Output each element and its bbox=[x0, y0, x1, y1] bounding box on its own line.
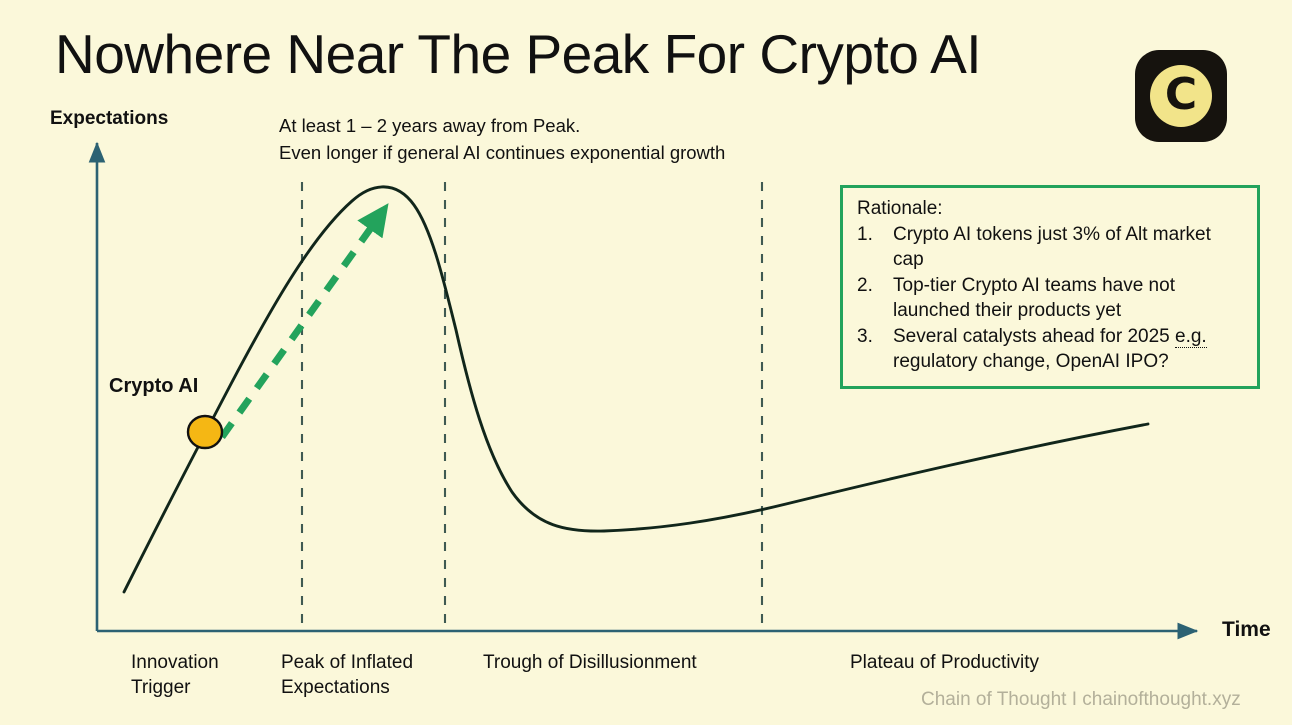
rationale-item-number: 2. bbox=[857, 273, 893, 323]
rationale-item: 1. Crypto AI tokens just 3% of Alt marke… bbox=[857, 222, 1243, 272]
slide-canvas: Nowhere Near The Peak For Crypto AI C Ex… bbox=[0, 0, 1292, 725]
rationale-item-number: 3. bbox=[857, 324, 893, 374]
rationale-item-text: Several catalysts ahead for 2025 e.g. re… bbox=[893, 324, 1243, 374]
rationale-list: 1. Crypto AI tokens just 3% of Alt marke… bbox=[857, 222, 1243, 374]
footer-attribution: Chain of Thought I chainofthought.xyz bbox=[921, 689, 1241, 711]
rationale-item: 2. Top-tier Crypto AI teams have not lau… bbox=[857, 273, 1243, 323]
rationale-item-number: 1. bbox=[857, 222, 893, 272]
phase-label-peak-of-inflated-expectations: Peak of Inflated Expectations bbox=[281, 650, 413, 700]
growth-projection-arrow bbox=[222, 218, 378, 437]
rationale-item-text-a: Several catalysts ahead for 2025 bbox=[893, 326, 1175, 347]
rationale-box: Rationale: 1. Crypto AI tokens just 3% o… bbox=[840, 185, 1260, 389]
phase-label-line-1: Peak of Inflated bbox=[281, 650, 413, 675]
rationale-item-text-c: regulatory change, OpenAI IPO? bbox=[893, 351, 1169, 372]
rationale-item: 3. Several catalysts ahead for 2025 e.g.… bbox=[857, 324, 1243, 374]
rationale-item-text: Top-tier Crypto AI teams have not launch… bbox=[893, 273, 1243, 323]
phase-label-line-1: Trough of Disillusionment bbox=[483, 650, 697, 675]
phase-label-plateau-of-productivity: Plateau of Productivity bbox=[850, 650, 1039, 675]
rationale-item-text: Crypto AI tokens just 3% of Alt market c… bbox=[893, 222, 1243, 272]
rationale-item-text-eg: e.g. bbox=[1175, 326, 1207, 348]
phase-label-line-2: Expectations bbox=[281, 675, 413, 700]
phase-label-line-1: Plateau of Productivity bbox=[850, 650, 1039, 675]
phase-label-line-2: Trigger bbox=[131, 675, 219, 700]
phase-label-line-1: Innovation bbox=[131, 650, 219, 675]
crypto-ai-position-dot bbox=[188, 416, 222, 448]
rationale-heading: Rationale: bbox=[857, 198, 1243, 220]
phase-label-innovation-trigger: Innovation Trigger bbox=[131, 650, 219, 700]
phase-label-trough-of-disillusionment: Trough of Disillusionment bbox=[483, 650, 697, 675]
